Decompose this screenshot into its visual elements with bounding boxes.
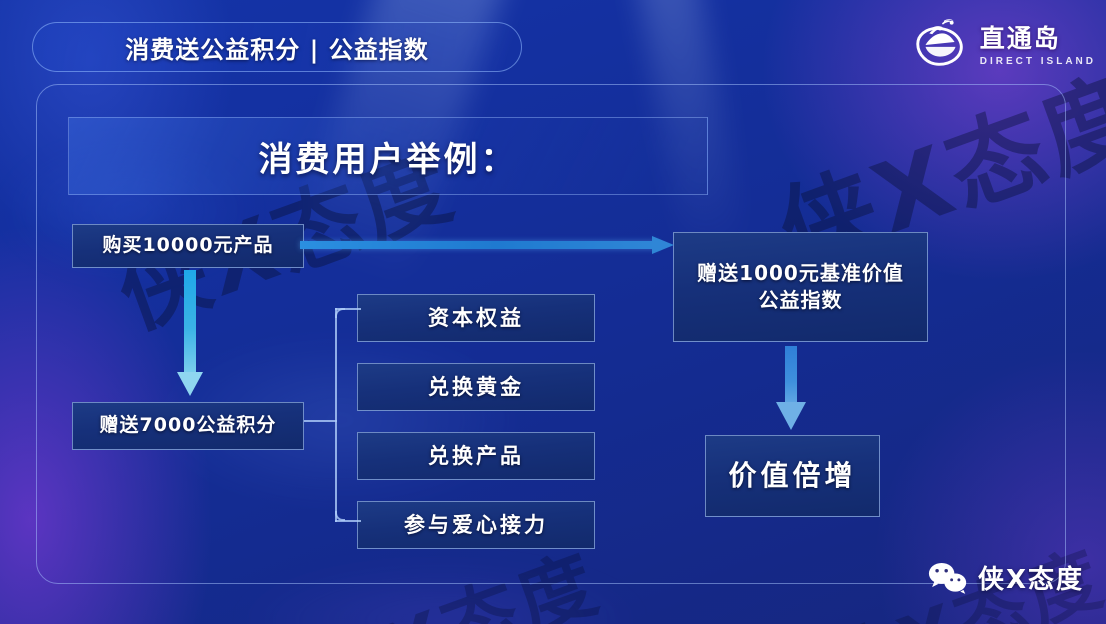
slide-title-pill: 消费送公益积分 | 公益指数 bbox=[32, 22, 522, 72]
node-purchase[interactable]: 购买10000元产品 bbox=[72, 224, 304, 268]
brand-name-en: DIRECT ISLAND bbox=[980, 56, 1096, 67]
node-value-multiplication-label: 价值倍增 bbox=[728, 457, 856, 495]
node-charity-points-label: 赠送7000公益积分 bbox=[100, 413, 277, 439]
page-title: 消费送公益积分 | 公益指数 bbox=[125, 30, 428, 65]
node-value-multiplication[interactable]: 价值倍增 bbox=[705, 435, 880, 517]
light-streak bbox=[230, 560, 650, 624]
node-option-capital-equity[interactable]: 资本权益 bbox=[357, 294, 595, 342]
node-charity-points[interactable]: 赠送7000公益积分 bbox=[72, 402, 304, 450]
footer-brand-name: 侠X态度 bbox=[978, 559, 1084, 596]
arrow-purchase-to-points-icon bbox=[177, 270, 203, 398]
arrow-purchase-to-base-value-icon bbox=[300, 238, 680, 252]
node-purchase-label: 购买10000元产品 bbox=[102, 233, 273, 259]
slide-canvas: 侠X态度 侠X态度 侠X态度 侠X态度 消费送公益积分 | 公益指数 直通岛 D… bbox=[0, 0, 1106, 624]
node-option-label: 兑换产品 bbox=[428, 442, 524, 470]
node-option-exchange-gold[interactable]: 兑换黄金 bbox=[357, 363, 595, 411]
bracket-points-to-options-icon bbox=[304, 305, 358, 525]
arrow-base-value-to-multiply-icon bbox=[776, 346, 806, 432]
brand-logo: 直通岛 DIRECT ISLAND bbox=[910, 12, 1096, 74]
brand-name-cn: 直通岛 bbox=[980, 19, 1061, 55]
node-base-value-text: 赠送1000元基准价值 公益指数 bbox=[697, 260, 904, 314]
footer-brand: 侠X态度 bbox=[928, 559, 1084, 596]
island-palm-logo-icon bbox=[910, 12, 972, 74]
node-base-value-index[interactable]: 赠送1000元基准价值 公益指数 bbox=[673, 232, 928, 342]
node-option-exchange-product[interactable]: 兑换产品 bbox=[357, 432, 595, 480]
section-heading-box: 消费用户举例： bbox=[68, 117, 708, 195]
wechat-icon bbox=[928, 561, 968, 595]
node-base-value-line1: 赠送1000元基准价值 bbox=[697, 261, 904, 285]
node-option-label: 资本权益 bbox=[428, 304, 524, 332]
node-option-label: 参与爱心接力 bbox=[404, 511, 548, 539]
node-option-label: 兑换黄金 bbox=[428, 373, 524, 401]
node-base-value-line2: 公益指数 bbox=[758, 288, 842, 312]
node-option-join-charity-relay[interactable]: 参与爱心接力 bbox=[357, 501, 595, 549]
section-heading-label: 消费用户举例： bbox=[259, 132, 518, 181]
